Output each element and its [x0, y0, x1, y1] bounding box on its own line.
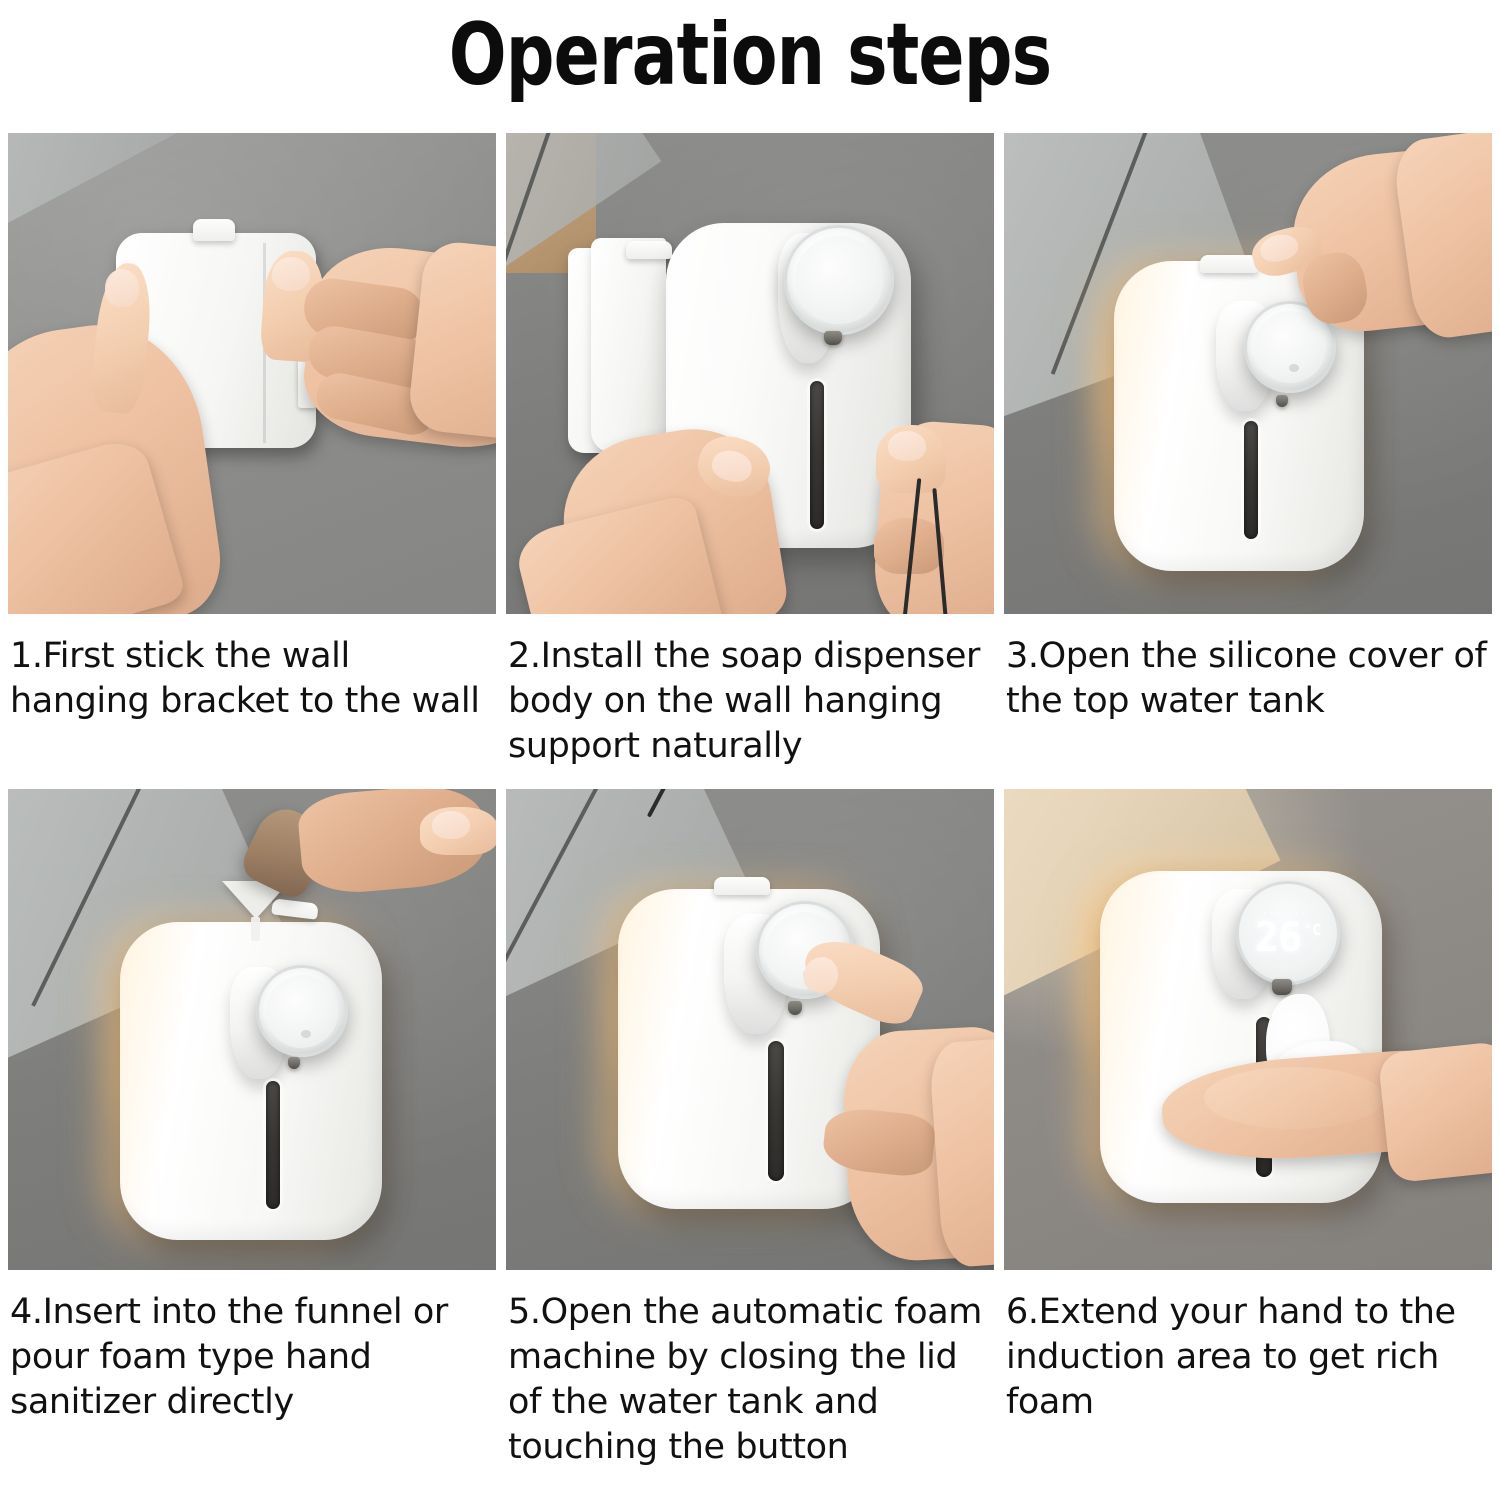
page-title: Operation steps: [90, 0, 1410, 110]
bracket-top-tab: [193, 219, 235, 241]
steps-row-bottom: 4.Insert into the funnel or pour foam ty…: [8, 789, 1492, 1469]
step-card-4: 4.Insert into the funnel or pour foam ty…: [8, 789, 496, 1469]
temperature-value: 26: [1255, 920, 1301, 957]
step-caption-6: 6.Extend your hand to the induction area…: [1004, 1270, 1492, 1424]
knob-face: [795, 236, 882, 323]
step-caption-4: 4.Insert into the funnel or pour foam ty…: [8, 1270, 496, 1424]
step-caption-3: 3.Open the silicone cover of the top wat…: [1004, 614, 1492, 724]
window-slot: [768, 1041, 784, 1181]
knob-indicator-dot: [1289, 364, 1299, 372]
temperature-unit: °C: [1303, 923, 1321, 938]
right-finger-nail: [888, 431, 926, 461]
bracket-flap: [591, 238, 666, 453]
step-card-3: 3.Open the silicone cover of the top wat…: [1004, 133, 1492, 768]
water-tank-knob[interactable]: [784, 225, 894, 335]
steps-row-top: 1.First stick the wall hanging bracket t…: [8, 133, 1492, 768]
knob-face: [1254, 311, 1326, 383]
led-display: ··—····· 26 °C: [1239, 884, 1337, 982]
window-slot: [1244, 421, 1258, 539]
infographic-page: Operation steps: [0, 0, 1500, 1493]
window-slot: [810, 381, 824, 529]
step-photo-3: [1004, 133, 1492, 614]
funnel-stem: [251, 917, 260, 941]
bracket-top-tab: [626, 241, 672, 259]
palm-highlight: [1204, 1067, 1384, 1129]
step-card-1: 1.First stick the wall hanging bracket t…: [8, 133, 496, 768]
tank-lid[interactable]: [714, 877, 770, 895]
silicone-cover[interactable]: [1200, 255, 1258, 273]
step-photo-2: [506, 133, 994, 614]
step-card-2: 2.Install the soap dispenser body on the…: [506, 133, 994, 768]
right-index-nail: [272, 257, 310, 291]
water-tank-knob-display[interactable]: ··—····· 26 °C: [1236, 881, 1340, 985]
step-caption-1: 1.First stick the wall hanging bracket t…: [8, 614, 496, 724]
step-photo-1: [8, 133, 496, 614]
step-card-5: 5.Open the automatic foam machine by clo…: [506, 789, 994, 1469]
step-photo-4: [8, 789, 496, 1270]
left-thumb-nail: [105, 269, 139, 307]
display-status-icons: ··—·····: [1262, 909, 1313, 919]
display-temperature: 26 °C: [1255, 920, 1321, 957]
step-caption-2: 2.Install the soap dispenser body on the…: [506, 614, 994, 768]
step-photo-6: ··—····· 26 °C: [1004, 789, 1492, 1270]
foam-spout: [1276, 395, 1288, 407]
foam-spout: [1272, 979, 1292, 995]
water-tank-knob[interactable]: [256, 965, 348, 1057]
step-card-6: ··—····· 26 °C: [1004, 789, 1492, 1469]
window-slot: [266, 1081, 280, 1209]
pouring-finger-nail: [432, 811, 470, 839]
right-wrist: [1378, 1041, 1492, 1184]
steps-grid: 1.First stick the wall hanging bracket t…: [8, 133, 1492, 1470]
step-photo-5: [506, 789, 994, 1270]
foam-spout: [824, 331, 842, 345]
step-caption-5: 5.Open the automatic foam machine by clo…: [506, 1270, 994, 1469]
